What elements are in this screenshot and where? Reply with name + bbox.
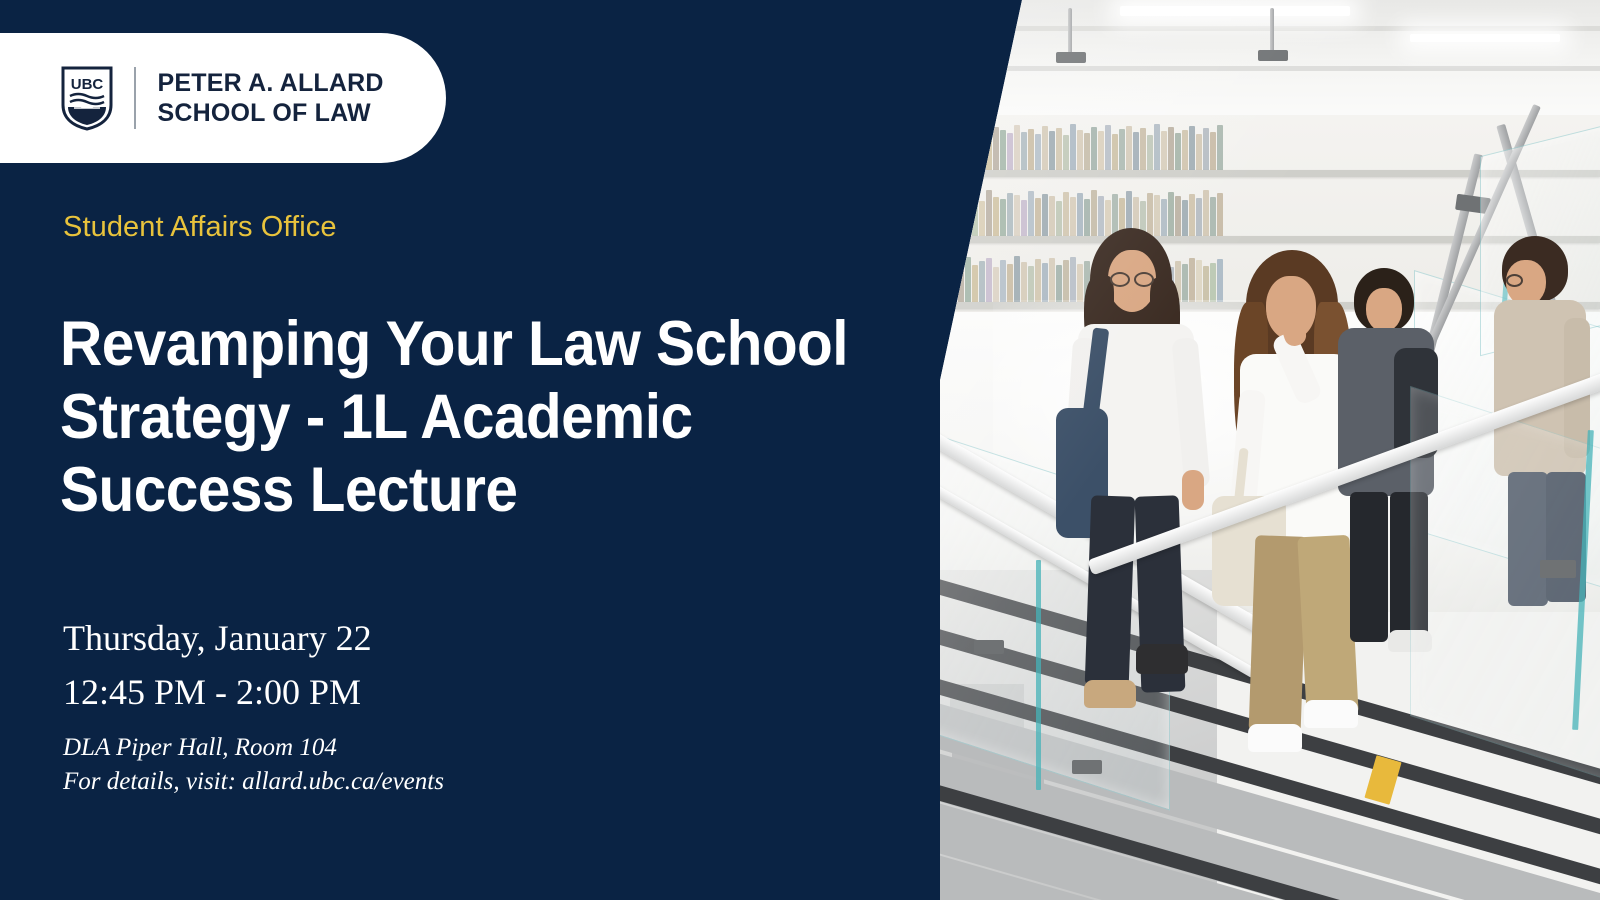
rod-clamp xyxy=(1258,50,1288,61)
event-time: 12:45 PM - 2:00 PM xyxy=(63,674,444,712)
glass-edge xyxy=(1036,560,1041,790)
ceiling-strip xyxy=(940,66,1600,71)
ceiling-light xyxy=(1410,34,1560,42)
glass-clamp xyxy=(1540,560,1576,578)
glasses-icon xyxy=(1110,272,1130,287)
shoe xyxy=(1248,724,1302,752)
ceiling-light xyxy=(1120,6,1350,16)
shoe xyxy=(1136,644,1188,674)
face xyxy=(1366,288,1402,332)
logo-divider xyxy=(134,67,136,129)
event-url-line[interactable]: For details, visit: allard.ubc.ca/events xyxy=(63,768,444,797)
wordmark-line-1: PETER A. ALLARD xyxy=(158,68,384,99)
leg xyxy=(1085,495,1136,686)
text-panel: UBC PETER A. ALLARD SCHOOL OF LAW Studen… xyxy=(0,0,1030,900)
kicker-label: Student Affairs Office xyxy=(63,211,337,244)
rod-clamp xyxy=(1056,52,1086,63)
event-date: Thursday, January 22 xyxy=(63,620,444,658)
svg-text:UBC: UBC xyxy=(71,76,104,93)
shoe xyxy=(1084,680,1136,708)
event-details: Thursday, January 22 12:45 PM - 2:00 PM … xyxy=(63,620,444,797)
event-location: DLA Piper Hall, Room 104 xyxy=(63,734,444,763)
glasses-icon xyxy=(1506,274,1523,287)
library-staircase-photo xyxy=(940,0,1600,900)
ubc-crest-icon: UBC xyxy=(60,65,114,131)
event-poster: UBC PETER A. ALLARD SCHOOL OF LAW Studen… xyxy=(0,0,1600,900)
logo-lockup[interactable]: UBC PETER A. ALLARD SCHOOL OF LAW xyxy=(0,33,446,163)
logo-wordmark: PETER A. ALLARD SCHOOL OF LAW xyxy=(158,68,384,129)
hand xyxy=(1182,470,1204,510)
person-student-1 xyxy=(1066,228,1226,788)
page-title: Revamping Your Law School Strategy - 1L … xyxy=(60,308,878,527)
suspension-rod xyxy=(1068,8,1072,56)
suspension-rod xyxy=(1270,8,1274,54)
leg xyxy=(1350,492,1388,642)
wordmark-line-2: SCHOOL OF LAW xyxy=(158,98,384,129)
glasses-icon xyxy=(1134,272,1154,287)
shoe xyxy=(1304,700,1358,728)
